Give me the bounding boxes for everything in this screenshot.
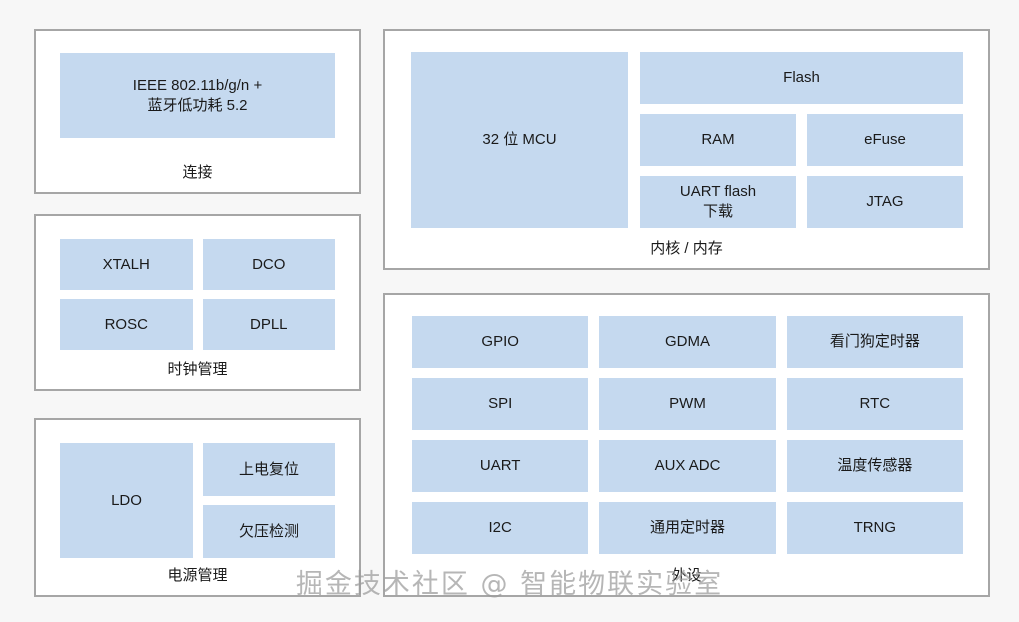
panel-clock-management: XTALH DCO ROSC DPLL 时钟管理: [34, 214, 361, 391]
block-dpll: DPLL: [203, 299, 336, 350]
block-brownout-detect: 欠压检测: [203, 505, 335, 558]
block-uart-flash-download-line2: 下载: [703, 203, 733, 220]
block-general-timer: 通用定时器: [599, 502, 775, 554]
block-efuse: eFuse: [807, 114, 963, 166]
block-aux-adc: AUX ADC: [599, 440, 775, 492]
power-sub-column: 上电复位 欠压检测: [203, 443, 335, 558]
memory-row-2: UART flash 下载 JTAG: [640, 176, 963, 228]
panel-core-memory: 32 位 MCU Flash RAM eFuse UART flash 下载 J…: [383, 29, 990, 270]
panel-clock-management-body: XTALH DCO ROSC DPLL: [36, 216, 359, 362]
block-jtag: JTAG: [807, 176, 963, 228]
panel-power-management: LDO 上电复位 欠压检测 电源管理: [34, 418, 361, 597]
block-32bit-mcu: 32 位 MCU: [411, 52, 628, 228]
block-ldo: LDO: [60, 443, 193, 558]
panel-core-memory-body: 32 位 MCU Flash RAM eFuse UART flash 下载 J…: [385, 31, 988, 241]
block-power-on-reset: 上电复位: [203, 443, 335, 496]
peripherals-row-1: GPIO GDMA 看门狗定时器: [412, 316, 963, 368]
block-flash: Flash: [640, 52, 963, 104]
block-wifi-bluetooth-line2: 蓝牙低功耗 5.2: [147, 97, 247, 114]
block-wifi-bluetooth-line1: IEEE 802.11b/g/n +: [133, 77, 262, 94]
memory-column: Flash RAM eFuse UART flash 下载 JTAG: [640, 52, 963, 228]
block-i2c: I2C: [412, 502, 588, 554]
panel-core-memory-label: 内核 / 内存: [385, 241, 988, 268]
block-spi: SPI: [412, 378, 588, 430]
clock-row-1: XTALH DCO: [60, 239, 335, 290]
memory-row-1: RAM eFuse: [640, 114, 963, 166]
block-xtalh: XTALH: [60, 239, 193, 290]
block-temperature-sensor: 温度传感器: [787, 440, 963, 492]
block-gpio: GPIO: [412, 316, 588, 368]
block-rtc: RTC: [787, 378, 963, 430]
block-uart: UART: [412, 440, 588, 492]
panel-power-management-label: 电源管理: [36, 568, 359, 595]
panel-connectivity: IEEE 802.11b/g/n + 蓝牙低功耗 5.2 连接: [34, 29, 361, 194]
soc-block-diagram: IEEE 802.11b/g/n + 蓝牙低功耗 5.2 连接 XTALH DC…: [0, 0, 1019, 622]
block-wifi-bluetooth: IEEE 802.11b/g/n + 蓝牙低功耗 5.2: [60, 53, 335, 138]
block-uart-flash-download: UART flash 下载: [640, 176, 796, 228]
panel-connectivity-label: 连接: [36, 165, 359, 192]
peripherals-row-2: SPI PWM RTC: [412, 378, 963, 430]
block-trng: TRNG: [787, 502, 963, 554]
block-dco: DCO: [203, 239, 336, 290]
block-watchdog-timer: 看门狗定时器: [787, 316, 963, 368]
peripherals-row-4: I2C 通用定时器 TRNG: [412, 502, 963, 554]
panel-peripherals: GPIO GDMA 看门狗定时器 SPI PWM RTC UART AUX AD…: [383, 293, 990, 597]
clock-row-2: ROSC DPLL: [60, 299, 335, 350]
panel-connectivity-body: IEEE 802.11b/g/n + 蓝牙低功耗 5.2: [36, 31, 359, 165]
block-pwm: PWM: [599, 378, 775, 430]
peripherals-row-3: UART AUX ADC 温度传感器: [412, 440, 963, 492]
block-rosc: ROSC: [60, 299, 193, 350]
panel-power-management-body: LDO 上电复位 欠压检测: [36, 420, 359, 568]
block-uart-flash-download-line1: UART flash: [680, 183, 756, 200]
panel-peripherals-body: GPIO GDMA 看门狗定时器 SPI PWM RTC UART AUX AD…: [385, 295, 988, 568]
panel-clock-management-label: 时钟管理: [36, 362, 359, 389]
block-ram: RAM: [640, 114, 796, 166]
block-gdma: GDMA: [599, 316, 775, 368]
panel-peripherals-label: 外设: [385, 568, 988, 595]
